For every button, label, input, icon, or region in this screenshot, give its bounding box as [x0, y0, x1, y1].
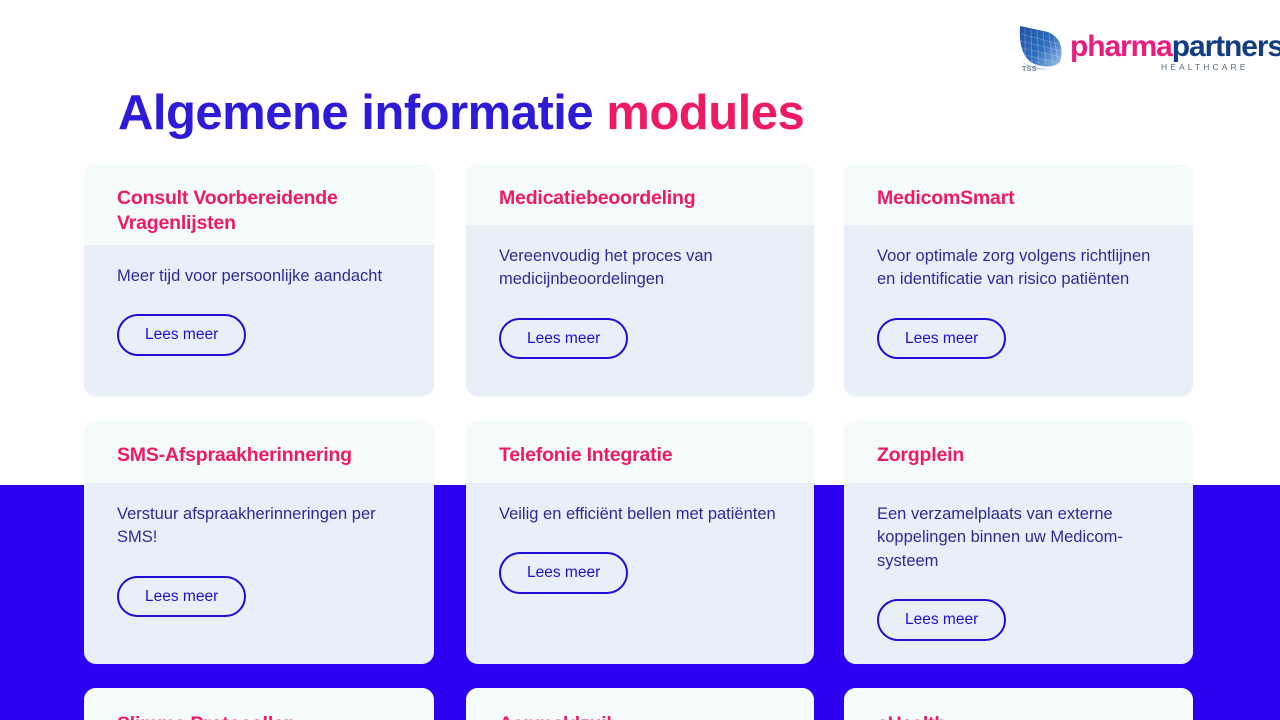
card-header: Slimme Protocollen	[84, 688, 434, 720]
logo-word-partners: partners	[1172, 30, 1280, 63]
card-title: Medicatiebeoordeling	[499, 186, 781, 211]
read-more-button[interactable]: Lees meer	[117, 314, 246, 356]
page-title-accent: modules	[606, 86, 804, 140]
page-title-primary: Algemene informatie	[118, 86, 606, 140]
card-title: Aanmeldzuil	[499, 712, 781, 720]
module-card[interactable]: SMS-Afspraakherinnering Verstuur afspraa…	[84, 421, 434, 664]
page-title: Algemene informatie modules	[118, 88, 804, 139]
card-header: MedicomSmart	[844, 164, 1193, 225]
card-title: eHealth	[877, 712, 1160, 720]
card-description: Meer tijd voor persoonlijke aandacht	[117, 265, 401, 288]
card-title: MedicomSmart	[877, 186, 1160, 211]
logo-word-pharma: pharma	[1070, 30, 1172, 63]
card-header: Consult Voorbereidende Vragenlijsten	[84, 164, 434, 245]
module-card[interactable]: MedicomSmart Voor optimale zorg volgens …	[844, 164, 1193, 396]
card-body: Verstuur afspraakherinneringen per SMS! …	[84, 483, 434, 643]
card-header: Medicatiebeoordeling	[466, 164, 814, 225]
card-header: Zorgplein	[844, 421, 1193, 483]
card-description: Een verzamelplaats van externe koppeling…	[877, 503, 1160, 573]
module-card[interactable]: Telefonie Integratie Veilig en efficiënt…	[466, 421, 814, 664]
module-card[interactable]: Consult Voorbereidende Vragenlijsten Mee…	[84, 164, 434, 396]
module-card[interactable]: Slimme Protocollen	[84, 688, 434, 720]
module-card[interactable]: Zorgplein Een verzamelplaats van externe…	[844, 421, 1193, 664]
tss-label: TSS	[1022, 66, 1037, 73]
card-header: SMS-Afspraakherinnering	[84, 421, 434, 483]
read-more-button[interactable]: Lees meer	[117, 576, 246, 618]
card-title: Slimme Protocollen	[117, 712, 401, 720]
card-description: Voor optimale zorg volgens richtlijnen e…	[877, 245, 1160, 292]
read-more-button[interactable]: Lees meer	[499, 318, 628, 360]
card-body: Een verzamelplaats van externe koppeling…	[844, 483, 1193, 664]
card-description: Veilig en efficiënt bellen met patiënten	[499, 503, 781, 526]
page-header: Algemene informatie modules	[0, 0, 1280, 160]
card-body: Veilig en efficiënt bellen met patiënten…	[466, 483, 814, 620]
card-body: Voor optimale zorg volgens richtlijnen e…	[844, 225, 1193, 385]
card-title: Consult Voorbereidende Vragenlijsten	[117, 186, 401, 236]
logo-wordmark: pharmapartners	[1070, 30, 1280, 64]
card-header: eHealth	[844, 688, 1193, 720]
card-header: Telefonie Integratie	[466, 421, 814, 483]
card-header: Aanmeldzuil	[466, 688, 814, 720]
card-title: Telefonie Integratie	[499, 443, 781, 468]
card-body: Vereenvoudig het proces van medicijnbeoo…	[466, 225, 814, 385]
card-description: Verstuur afspraakherinneringen per SMS!	[117, 503, 401, 550]
card-title: SMS-Afspraakherinnering	[117, 443, 401, 468]
pharmapartners-logo: TSS pharmapartners HEALTHCARE	[1012, 22, 1244, 84]
module-card[interactable]: Aanmeldzuil	[466, 688, 814, 720]
read-more-button[interactable]: Lees meer	[499, 552, 628, 594]
module-card[interactable]: eHealth	[844, 688, 1193, 720]
logo-subtitle: HEALTHCARE	[1161, 62, 1249, 72]
page-stage: Algemene informatie modules	[0, 0, 1280, 720]
card-body: Meer tijd voor persoonlijke aandacht Lee…	[84, 245, 434, 382]
card-title: Zorgplein	[877, 443, 1160, 468]
card-description: Vereenvoudig het proces van medicijnbeoo…	[499, 245, 781, 292]
read-more-button[interactable]: Lees meer	[877, 318, 1006, 360]
module-card[interactable]: Medicatiebeoordeling Vereenvoudig het pr…	[466, 164, 814, 396]
read-more-button[interactable]: Lees meer	[877, 599, 1006, 641]
